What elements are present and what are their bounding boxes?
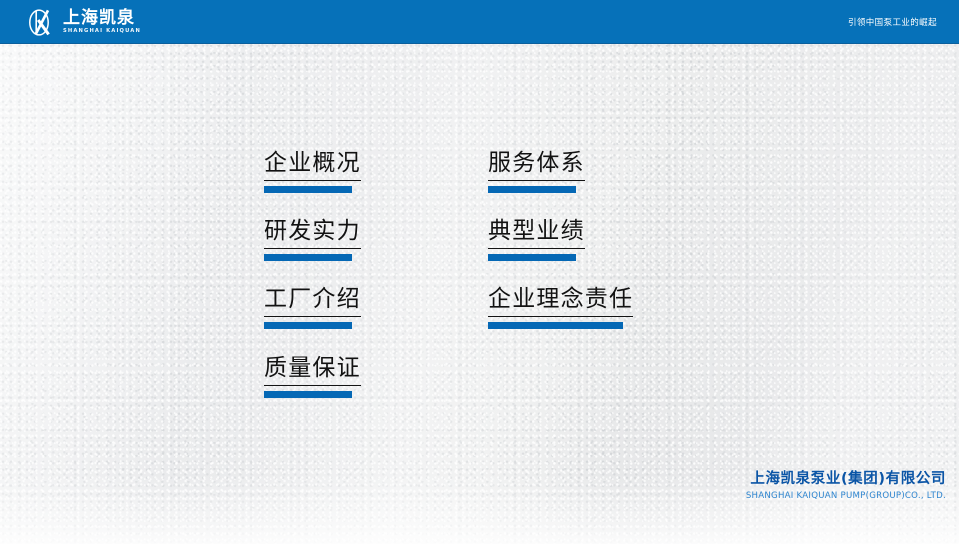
brand-logo-en: SHANGHAI KAIQUAN xyxy=(63,27,141,35)
header-slogan: 引领中国泵工业的崛起 xyxy=(848,0,937,44)
menu-item-label: 质量保证 xyxy=(264,353,361,386)
menu-item-label: 服务体系 xyxy=(488,148,585,181)
menu-item-accent-bar xyxy=(488,254,576,261)
menu-item-right-1[interactable]: 服务体系 xyxy=(488,148,585,193)
menu-item-accent-bar xyxy=(264,186,352,193)
menu-item-left-3[interactable]: 工厂介绍 xyxy=(264,284,361,329)
footer-company-cn: 上海凯泉泵业(集团)有限公司 xyxy=(746,470,946,488)
menu-item-label: 研发实力 xyxy=(264,216,361,249)
menu-item-accent-bar xyxy=(264,391,352,398)
menu-item-left-2[interactable]: 研发实力 xyxy=(264,216,361,261)
menu-item-left-4[interactable]: 质量保证 xyxy=(264,353,361,398)
menu-item-accent-bar xyxy=(488,322,623,329)
menu-item-label: 工厂介绍 xyxy=(264,284,361,317)
menu-item-left-1[interactable]: 企业概况 xyxy=(264,148,361,193)
menu-item-label: 企业理念责任 xyxy=(488,284,633,317)
footer-company-en: SHANGHAI KAIQUAN PUMP(GROUP)CO., LTD. xyxy=(746,490,946,502)
menu-item-right-3[interactable]: 企业理念责任 xyxy=(488,284,633,329)
slide-background-texture xyxy=(0,0,959,544)
menu-item-accent-bar xyxy=(488,186,576,193)
header-bar xyxy=(0,0,959,44)
presentation-slide: 上海凯泉 SHANGHAI KAIQUAN 引领中国泵工业的崛起 企业概况研发实… xyxy=(0,0,959,544)
menu-item-label: 典型业绩 xyxy=(488,216,585,249)
menu-item-right-2[interactable]: 典型业绩 xyxy=(488,216,585,261)
brand-logo-cn: 上海凯泉 xyxy=(63,9,141,27)
menu-item-accent-bar xyxy=(264,322,352,329)
header-bar-bottom-edge xyxy=(0,43,959,44)
footer-brand: 上海凯泉泵业(集团)有限公司 SHANGHAI KAIQUAN PUMP(GRO… xyxy=(746,470,946,502)
brand-logo-text: 上海凯泉 SHANGHAI KAIQUAN xyxy=(63,9,141,35)
menu-item-accent-bar xyxy=(264,254,352,261)
kaiquan-k-logo-icon xyxy=(26,8,58,37)
brand-logo[interactable]: 上海凯泉 SHANGHAI KAIQUAN xyxy=(26,7,141,37)
menu-item-label: 企业概况 xyxy=(264,148,361,181)
